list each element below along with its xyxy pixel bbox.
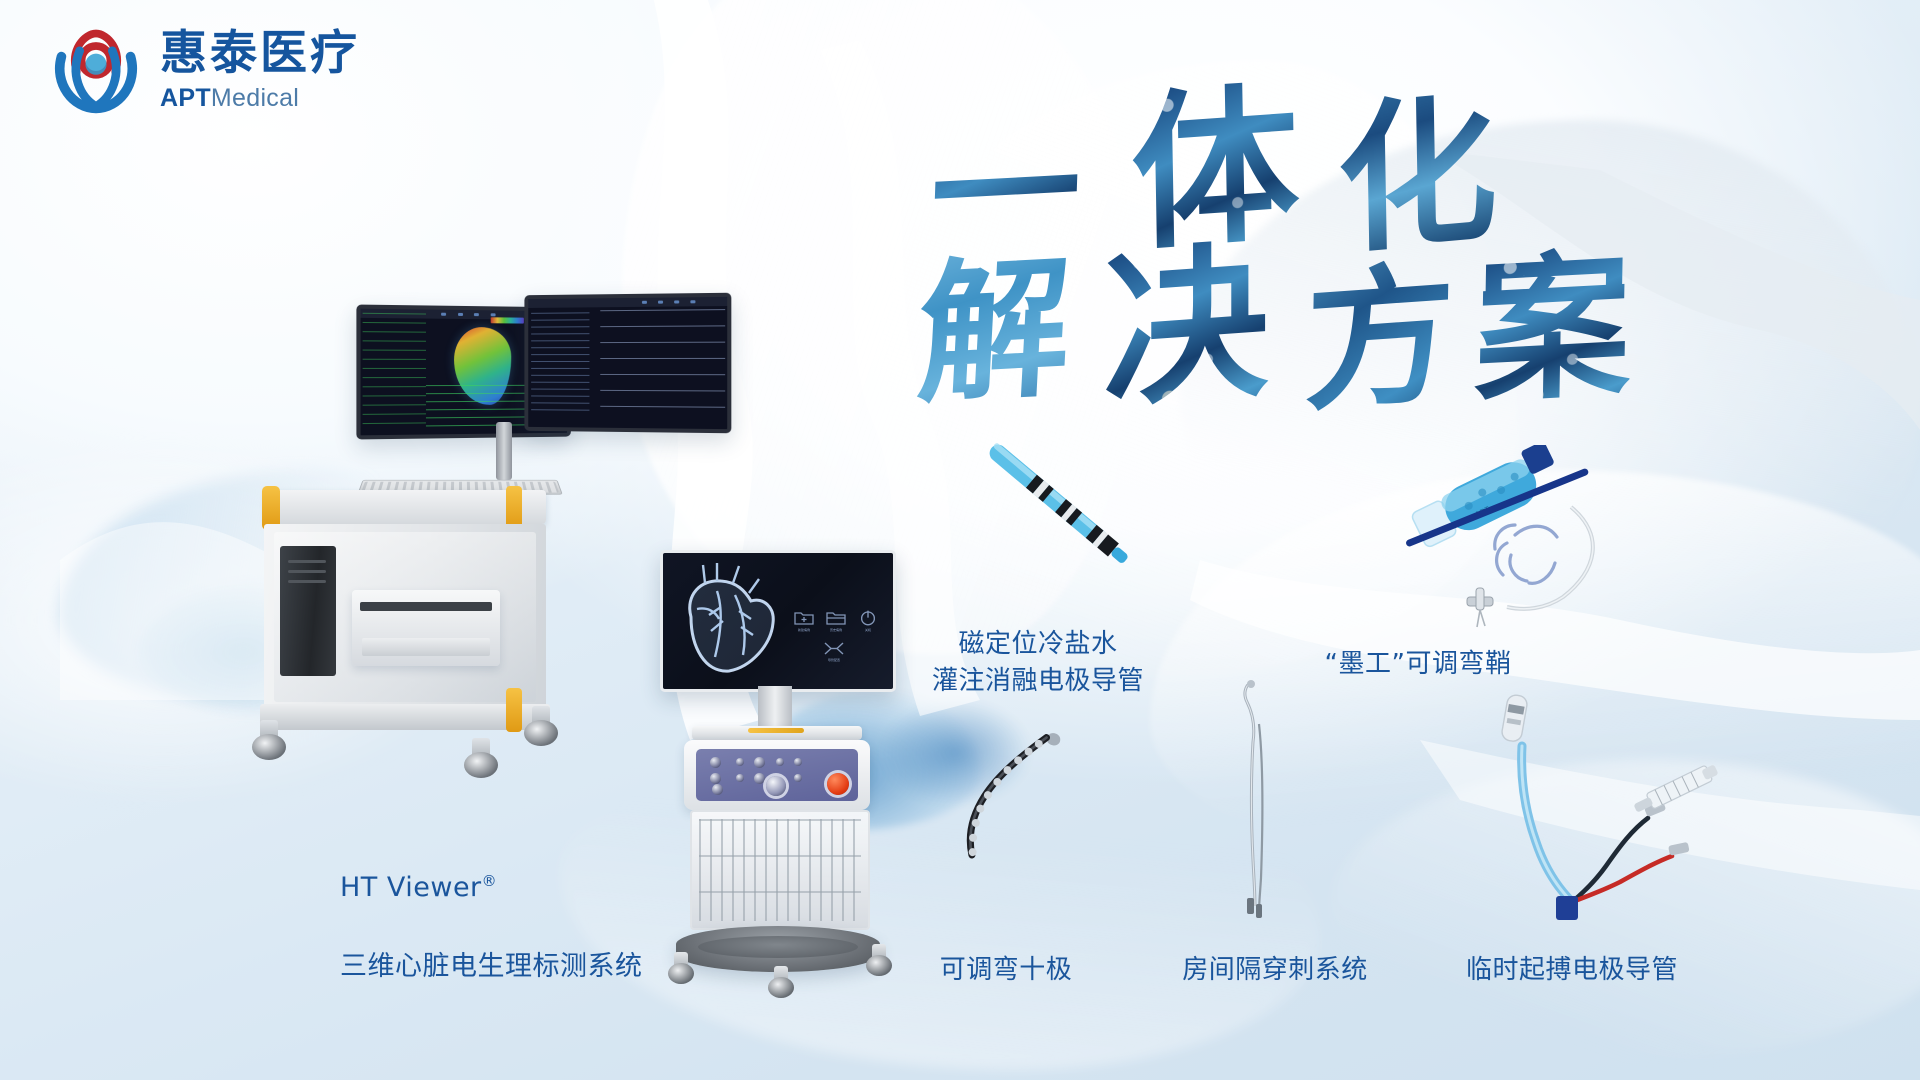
system-description: 三维心脏电生理标测系统	[340, 948, 643, 986]
sheath-syringe-icon: APT	[1395, 445, 1665, 630]
new-case-folder-icon[interactable]: 新建病例	[793, 609, 815, 635]
needle-icon	[1215, 680, 1285, 910]
headline-char-7: 案	[1473, 198, 1633, 433]
apt-medical-interlocking-loops-logo	[48, 22, 144, 118]
product-label-steerable-decapolar: 可调弯十极	[940, 952, 1073, 989]
connector-faceplate	[696, 749, 858, 801]
workstation-pc	[280, 546, 336, 676]
tray-yellow-accent	[748, 728, 804, 733]
main-output-port[interactable]	[766, 776, 786, 796]
poster-canvas: 惠泰医疗 APTMedical 一 体 化 解 决 方 案	[0, 0, 1920, 1080]
icon-caption: 历史病例	[830, 628, 842, 632]
connector-port[interactable]	[736, 774, 744, 782]
cart-caster	[252, 720, 286, 760]
catheter-icon	[985, 440, 1175, 580]
pacing-lead-icon	[1480, 690, 1730, 920]
headline-char-5: 决	[1103, 186, 1269, 439]
printer-paper-slot	[360, 602, 492, 611]
decapolar-catheter-icon	[955, 720, 1065, 860]
console-caster	[668, 952, 694, 984]
headline-char-4: 解	[913, 204, 1076, 433]
brand-logo[interactable]: 惠泰医疗 APTMedical	[48, 22, 360, 118]
console-icon-row: 新建病例 历史病例 关机 导管配置	[787, 609, 879, 667]
monitor-arm	[496, 422, 512, 480]
open-folder-icon[interactable]: 历史病例	[825, 609, 847, 635]
cart-caster	[464, 738, 498, 778]
connector-port[interactable]	[776, 758, 784, 766]
recording-monitor-right	[524, 293, 731, 434]
cart-caster	[524, 706, 558, 746]
console-connector-panel	[684, 740, 870, 810]
connector-port[interactable]	[710, 757, 721, 768]
connector-port[interactable]	[754, 773, 765, 784]
headline-calligraphy: 一 体 化 解 决 方 案	[955, 40, 1615, 360]
printer-control-panel[interactable]	[362, 638, 490, 656]
brand-name-en-light: Medical	[211, 84, 299, 112]
connector-port[interactable]	[736, 758, 744, 766]
cart-worktop	[266, 490, 546, 524]
brand-name-en: APTMedical	[160, 86, 360, 111]
connector-port[interactable]	[794, 758, 802, 766]
system-label: HT Viewer® 三维心脏电生理标测系统	[340, 832, 643, 1023]
connector-port[interactable]	[794, 774, 802, 782]
power-icon[interactable]: 关机	[857, 609, 879, 635]
report-printer	[352, 590, 500, 666]
icon-caption: 导管配置	[828, 658, 840, 662]
heart-illustration-icon	[671, 561, 795, 681]
product-label-temporary-pacing-lead: 临时起搏电极导管	[1466, 952, 1678, 989]
cart-handle-lower[interactable]	[506, 688, 522, 732]
connector-port[interactable]	[710, 773, 721, 784]
console-caster	[768, 966, 794, 998]
product-label-irrigated-ablation-catheter: 磁定位冷盐水 灌注消融电极导管	[932, 626, 1144, 700]
headline-char-6: 方	[1303, 212, 1456, 440]
emergency-stop-button[interactable]	[827, 773, 849, 795]
catheter-config-icon[interactable]: 导管配置	[823, 641, 845, 667]
ep-console-unit: 新建病例 历史病例 关机 导管配置	[650, 540, 920, 1020]
ep-workstation-cart	[300, 290, 660, 810]
system-model: HT Viewer®	[340, 869, 643, 907]
console-storage-basket	[690, 810, 870, 930]
ground-port[interactable]	[712, 784, 723, 795]
product-label-transseptal-puncture-system: 房间隔穿刺系统	[1182, 952, 1368, 989]
connector-port[interactable]	[754, 757, 765, 768]
console-touchscreen[interactable]: 新建病例 历史病例 关机 导管配置	[660, 550, 896, 692]
console-tray	[692, 726, 862, 740]
brand-name-cn: 惠泰医疗	[160, 30, 360, 77]
trademark-symbol: ®	[482, 872, 498, 890]
brand-name-en-bold: APT	[160, 84, 211, 112]
console-column	[758, 686, 792, 728]
icon-caption: 新建病例	[798, 628, 810, 632]
product-label-steerable-sheath: “墨工”可调弯鞘	[1325, 646, 1512, 683]
icon-caption: 关机	[865, 628, 871, 632]
console-caster	[866, 944, 892, 976]
